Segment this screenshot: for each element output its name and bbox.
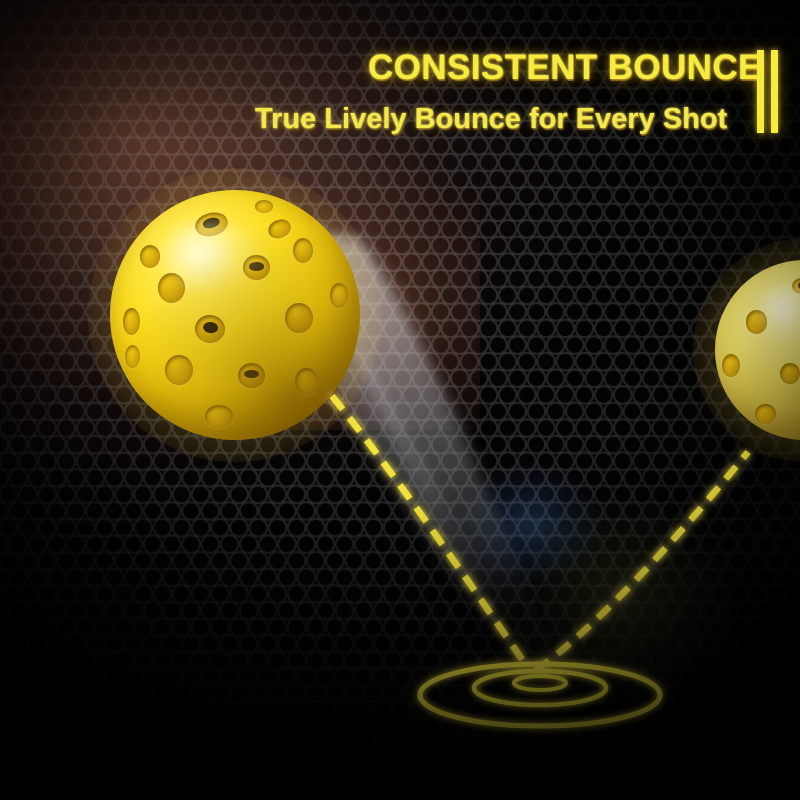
- product-feature-banner: CONSISTENT BOUNCE True Lively Bounce for…: [0, 0, 800, 800]
- accent-bar-2: [771, 50, 778, 133]
- page-subtitle: True Lively Bounce for Every Shot: [255, 105, 727, 134]
- accent-bars: [757, 50, 778, 133]
- accent-bar-1: [757, 50, 764, 133]
- page-title: CONSISTENT BOUNCE: [368, 50, 762, 85]
